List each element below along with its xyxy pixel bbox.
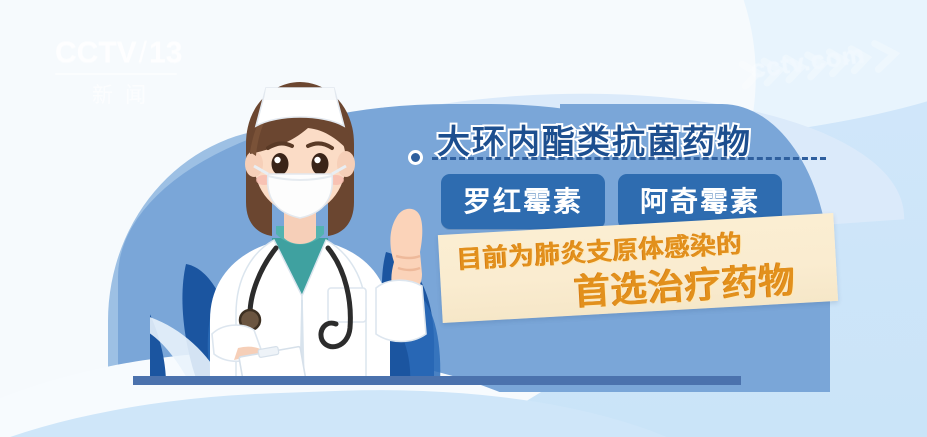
logo-cctv-text: CCTV (55, 36, 137, 70)
page-title: 大环内酯类抗菌药物 (437, 115, 752, 163)
doctor-illustration (150, 52, 450, 382)
cctv-com-watermark: cctv.com (735, 36, 925, 90)
broadcast-frame: cctv.com CCTV / 13 新闻 (0, 0, 927, 437)
desk-bar (133, 376, 741, 385)
title-dashed-rule (432, 157, 826, 160)
drug-pill-roxithromycin[interactable]: 罗红霉素 (441, 174, 605, 229)
logo-slash: / (139, 36, 147, 70)
title-bullet-dot (408, 150, 423, 165)
